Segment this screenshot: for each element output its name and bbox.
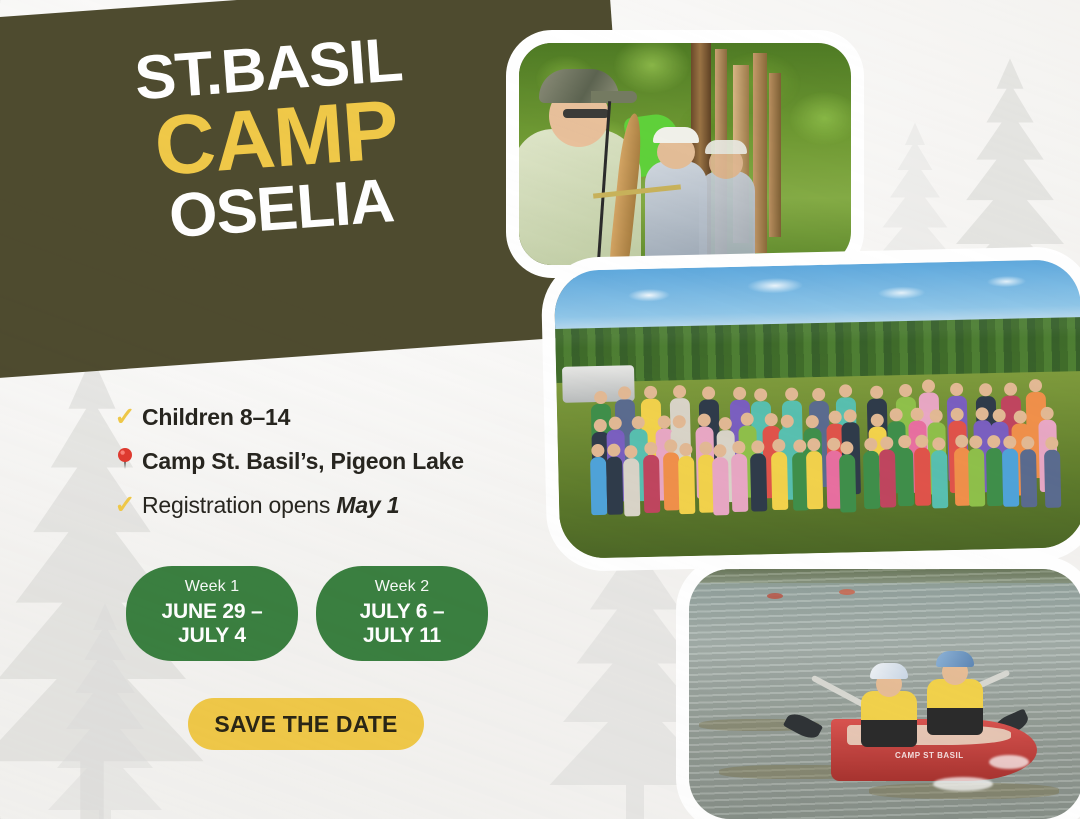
camper-figure [643, 454, 660, 512]
camper-figure [749, 453, 766, 511]
week-pill-group: Week 1 JUNE 29 –JULY 4 Week 2 JULY 6 –JU… [126, 566, 488, 661]
info-text: Camp St. Basil’s, Pigeon Lake [142, 448, 464, 475]
week-pill-1[interactable]: Week 1 JUNE 29 –JULY 4 [126, 566, 298, 661]
camper-figure [931, 450, 948, 508]
save-the-date-label: SAVE THE DATE [214, 711, 397, 738]
group-photo [541, 246, 1080, 572]
list-item: Camp St. Basil’s, Pigeon Lake [108, 444, 528, 479]
camper-figure [1044, 449, 1061, 507]
archery-photo [506, 30, 864, 278]
camper-figure [1002, 449, 1019, 507]
page-title: ST.BASIL CAMP OSELIA [0, 23, 533, 257]
camper-figure [606, 456, 623, 514]
check-icon: ✓ [108, 493, 142, 518]
week-dates-line-2: JULY 4 [178, 624, 246, 647]
week-label: Week 1 [126, 578, 298, 596]
list-item: ✓ Registration opens May 1 [108, 488, 528, 523]
week-dates: JULY 6 –JULY 11 [316, 600, 488, 647]
info-list: ✓ Children 8–14 Camp St. Basil’s, Pigeon… [108, 400, 528, 532]
week-pill-2[interactable]: Week 2 JULY 6 –JULY 11 [316, 566, 488, 661]
poster-canvas: ST.BASIL CAMP OSELIA ✓ Children 8–14 Cam… [0, 0, 1080, 819]
camper-figure [712, 457, 729, 515]
save-the-date-button[interactable]: SAVE THE DATE [188, 698, 424, 750]
camper-figure [863, 450, 880, 508]
camper-figure [1020, 449, 1037, 507]
camper-figure [590, 457, 607, 515]
camper-figure [913, 447, 930, 505]
week-dates-line-1: JULY 6 – [360, 600, 445, 623]
check-icon: ✓ [108, 405, 142, 430]
week-dates-line-1: JUNE 29 – [162, 600, 263, 623]
camper-figure [839, 454, 856, 512]
camper-figure [897, 448, 914, 506]
camper-figure [771, 451, 788, 509]
week-label: Week 2 [316, 578, 488, 596]
camper-figure [879, 450, 896, 508]
camper-figure [731, 453, 748, 511]
camper-figure [968, 448, 985, 506]
info-text: Children 8–14 [142, 404, 290, 431]
camper-figure [986, 448, 1003, 506]
info-text: Registration opens May 1 [142, 492, 399, 519]
camper-figure [678, 456, 695, 514]
canoe-text: CAMP ST BASIL [895, 751, 964, 760]
canoe-photo: CAMP ST BASIL [676, 556, 1080, 819]
week-dates: JUNE 29 –JULY 4 [126, 600, 298, 647]
info-text-emphasis: May 1 [336, 492, 399, 518]
list-item: ✓ Children 8–14 [108, 400, 528, 435]
week-dates-line-2: JULY 11 [363, 624, 441, 647]
camper-figure [806, 451, 823, 509]
info-text-plain: Registration opens [142, 492, 336, 518]
camper-figure [623, 458, 640, 516]
map-pin-icon [108, 447, 142, 477]
